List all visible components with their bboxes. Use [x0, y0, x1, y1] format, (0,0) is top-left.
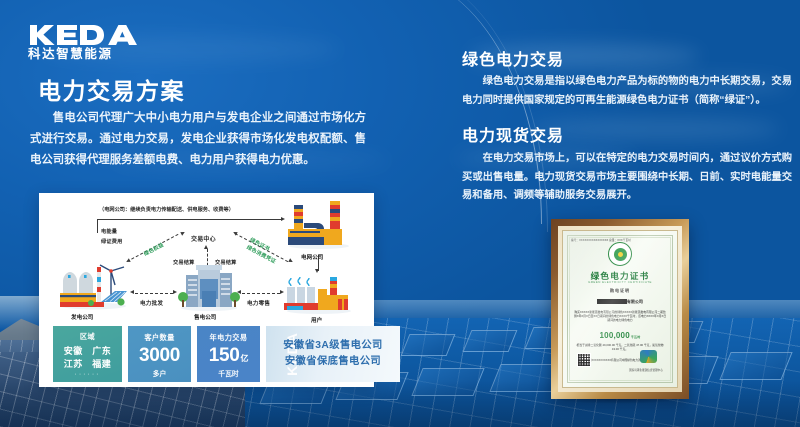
- certificate-paper: 编号：XXXXXXXXXXXXXXXX 总量：XXX千瓦时 绿色电力证书 GRE…: [562, 230, 678, 388]
- diagram-center-label: 交易中心: [191, 234, 216, 243]
- certificate-amount-row: 100,000千瓦时: [563, 331, 677, 340]
- certificate-title-en: GREEN ELECTRICITY CERTIFICATE: [563, 280, 677, 284]
- stats-row: 区域 安徽 广东 江苏 福建 ······ 客户数量 3000 多户 年电力交易…: [53, 326, 400, 382]
- certificate-subtitle: 购电证明: [563, 288, 677, 294]
- stat-region-caption: 区域: [80, 332, 95, 342]
- certificate-amount: 100,000: [600, 331, 630, 340]
- banner-line-2: 安徽省保底售电公司: [285, 354, 381, 370]
- diagram-retail-line: [242, 293, 280, 294]
- certificate-org-name: 国家可再生能源信息管理中心: [623, 368, 669, 372]
- stat-customers-sub: 多户: [153, 368, 167, 378]
- stat-card-customers: 客户数量 3000 多户: [128, 326, 191, 382]
- diagram-wholesale-line: [135, 293, 173, 294]
- green-certificate: 编号：XXXXXXXXXXXXXXXX 总量：XXX千瓦时 绿色电力证书 GRE…: [551, 219, 689, 399]
- electricity-retailer-illustration: [178, 263, 240, 313]
- certificate-body-text: 购买XXXXX新能源发电有限公司的绿色XXXXX新能源发电有限公司二期监测X年X…: [573, 310, 667, 323]
- diagram-node-retailer: 售电公司: [194, 313, 216, 321]
- stat-region-dots: ······: [75, 371, 101, 378]
- certificate-company-suffix: 有限公司: [627, 299, 643, 304]
- certificate-company-mask: XXXXXXXXXX: [597, 299, 627, 304]
- grid-company-illustration: [284, 199, 354, 251]
- arrow-left-icon: [130, 290, 134, 294]
- stat-trading-sub: 千瓦时: [218, 368, 238, 378]
- diagram-fee-label-2: 绿证费用: [101, 238, 123, 245]
- diagram-grid-note: （电网公司：继续负责电力传输配送、供电服务、收费等）: [99, 206, 234, 213]
- stat-trading-caption: 年电力交易: [210, 333, 248, 343]
- left-column: 科达智慧能源 电力交易方案 售电公司代理广大中小电力用户与发电企业之间通过市场化…: [0, 0, 420, 427]
- users-factory-illustration: [282, 273, 356, 315]
- stat-region-row-1: 安徽 广东: [64, 345, 112, 357]
- seal-center-icon: [614, 248, 627, 261]
- certificate-company-row: XXXXXXXXXX有限公司: [563, 299, 677, 305]
- qr-code-icon: [577, 353, 591, 367]
- power-generation-illustration: [57, 255, 129, 311]
- certificate-mat: 编号：XXXXXXXXXXXXXXXX 总量：XXX千瓦时 绿色电力证书 GRE…: [558, 226, 682, 392]
- diagram-retail-label: 电力零售: [247, 299, 270, 307]
- certificate-frame: 编号：XXXXXXXXXXXXXXXX 总量：XXX千瓦时 绿色电力证书 GRE…: [551, 219, 689, 399]
- certificate-seal-icon: [608, 242, 632, 266]
- stat-card-annual-trading: 年电力交易 150亿 千瓦时: [197, 326, 260, 382]
- keda-wordmark-icon: [28, 23, 146, 47]
- brand-logo: 科达智慧能源: [28, 23, 153, 62]
- diagram-green-rights-label: 绿色权益: [143, 241, 165, 257]
- stat-customers-caption: 客户数量: [144, 333, 174, 343]
- stat-trading-value-wrap: 150亿: [209, 346, 249, 365]
- section-body-green-power: 绿色电力交易是指以绿色电力产品为标的物的电力中长期交易，交易电力同时提供国家规定…: [462, 73, 792, 110]
- certificate-amount-unit: 千瓦时: [631, 335, 641, 339]
- stat-region-row-2: 江苏 福建: [64, 358, 112, 370]
- poster-canvas: 科达智慧能源 电力交易方案 售电公司代理广大中小电力用户与发电企业之间通过市场化…: [0, 0, 800, 427]
- diagram-node-generation: 发电公司: [71, 313, 93, 321]
- section-heading-green-power: 绿色电力交易: [462, 46, 564, 70]
- stat-trading-unit: 亿: [241, 354, 249, 363]
- section-body-spot-trading: 在电力交易市场上，可以在特定的电力交易时间内，通过议价方式购买或出售电量。电力现…: [462, 150, 792, 206]
- page-title: 电力交易方案: [38, 72, 185, 106]
- banner-line-1: 安徽省3A级售电公司: [283, 338, 383, 354]
- arrow-right-icon: [173, 290, 177, 294]
- brand-subtitle: 科达智慧能源: [28, 48, 153, 62]
- stat-customers-value: 3000: [139, 346, 180, 365]
- diagram-fee-label-1: 电能量: [101, 228, 117, 235]
- arrow-right-icon: [180, 230, 185, 235]
- arrow-right-icon: [288, 258, 293, 263]
- section-heading-spot-trading: 电力现货交易: [462, 122, 564, 146]
- qualification-banner: KEDA 安徽省3A级售电公司 安徽省保底售电公司: [266, 326, 400, 382]
- certificate-org-logo-icon: [640, 350, 657, 363]
- diagram-node-grid: 电网公司: [301, 253, 323, 261]
- stat-card-region: 区域 安徽 广东 江苏 福建 ······: [53, 326, 122, 382]
- diagram-wholesale-label: 电力批发: [140, 299, 163, 307]
- page-description: 售电公司代理广大中小电力用户与发电企业之间通过市场化方式进行交易。通过电力交易，…: [30, 108, 366, 171]
- diagram-top-line: [97, 219, 281, 220]
- arrow-up-icon: [204, 245, 208, 249]
- diagram-node-user: 用户: [311, 316, 322, 324]
- diagram-top-line-left-tick: [97, 219, 98, 233]
- stat-trading-value: 150: [209, 345, 240, 366]
